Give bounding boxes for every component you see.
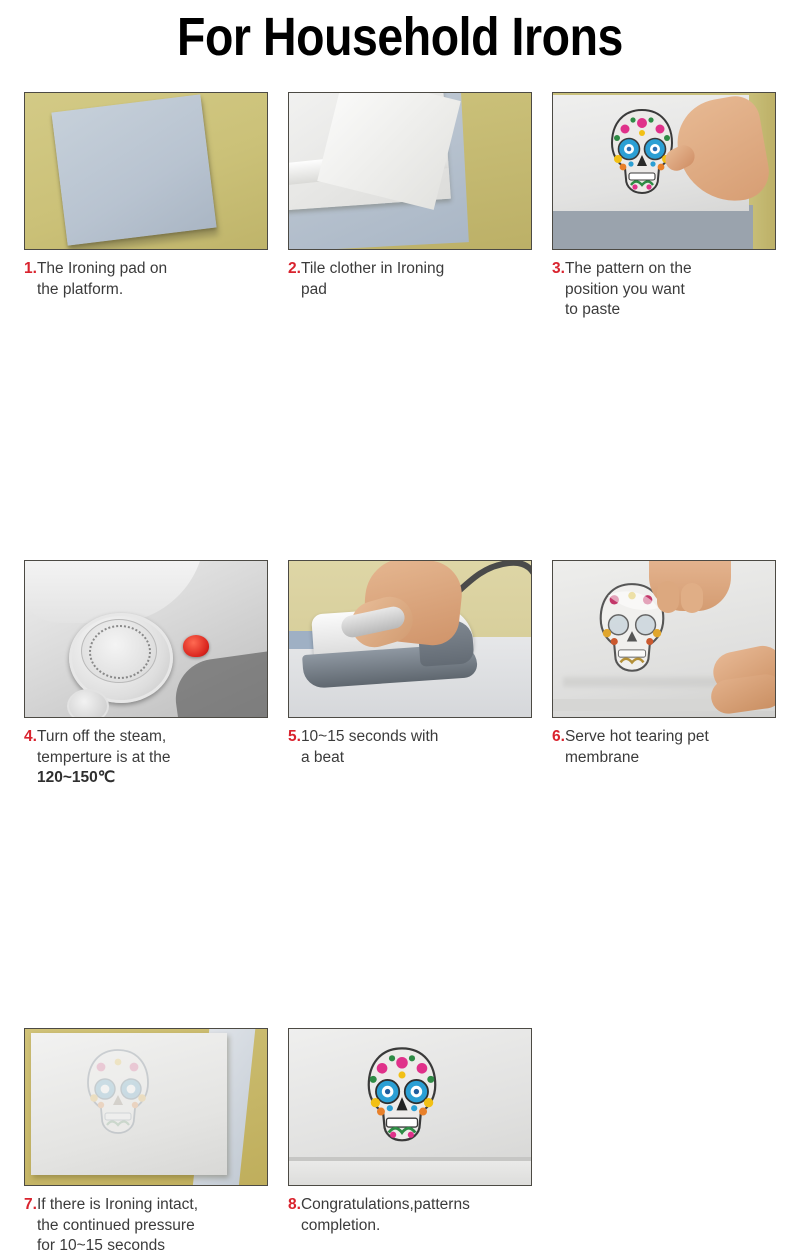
step-1-caption: 1.The Ironing pad on the platform. bbox=[24, 259, 268, 300]
step-7: 7.If there is Ironing intact, the contin… bbox=[24, 1028, 268, 1257]
step-3-number: 3. bbox=[552, 260, 565, 277]
step-3: 3.The pattern on the position you want t… bbox=[552, 92, 776, 321]
cloth-tiled-on-pad-photo bbox=[288, 92, 532, 250]
step-3-line-1: The pattern on the bbox=[565, 260, 692, 277]
step-3-caption: 3.The pattern on the position you want t… bbox=[552, 259, 776, 321]
step-8: 8.Congratulations,patterns completion. bbox=[288, 1028, 532, 1236]
page-title: For Household Irons bbox=[56, 6, 744, 68]
steps-row-1: 1.The Ironing pad on the platform. 2.Til… bbox=[0, 92, 800, 330]
place-pattern-photo bbox=[552, 92, 776, 250]
step-2: 2.Tile clother in Ironing pad bbox=[288, 92, 532, 300]
step-2-line-1: Tile clother in Ironing bbox=[301, 260, 444, 277]
step-8-line-2: completion. bbox=[301, 1217, 380, 1234]
step-1-number: 1. bbox=[24, 260, 37, 277]
instruction-sheet: For Household Irons 1.The Ironing pad on… bbox=[0, 0, 800, 800]
step-8-caption: 8.Congratulations,patterns completion. bbox=[288, 1195, 532, 1236]
step-3-line-2: position you want bbox=[565, 281, 685, 298]
step-2-line-2: pad bbox=[301, 281, 327, 298]
ironing-pad-on-platform-photo bbox=[24, 92, 268, 250]
step-1-line-2: the platform. bbox=[37, 281, 123, 298]
steps-row-2: 4.Turn off the steam, temperture is at t… bbox=[0, 328, 800, 566]
step-1: 1.The Ironing pad on the platform. bbox=[24, 92, 268, 300]
step-8-line-1: Congratulations,patterns bbox=[301, 1196, 470, 1213]
step-8-number: 8. bbox=[288, 1196, 301, 1213]
ironing-pad bbox=[51, 94, 216, 245]
finished-pattern-photo bbox=[288, 1028, 532, 1186]
sugar-skull-pattern-faded bbox=[81, 1047, 155, 1139]
step-1-line-1: The Ironing pad on bbox=[37, 260, 167, 277]
step-2-number: 2. bbox=[288, 260, 301, 277]
step-3-line-3: to paste bbox=[565, 301, 620, 318]
steps-grid: 1.The Ironing pad on the platform. 2.Til… bbox=[0, 92, 800, 796]
step-7-number: 7. bbox=[24, 1196, 37, 1213]
step-7-caption: 7.If there is Ironing intact, the contin… bbox=[24, 1195, 268, 1257]
step-2-caption: 2.Tile clother in Ironing pad bbox=[288, 259, 532, 300]
sugar-skull-pattern bbox=[361, 1045, 443, 1147]
faded-pattern-recheck-photo bbox=[24, 1028, 268, 1186]
step-7-line-1: If there is Ironing intact, bbox=[37, 1196, 198, 1213]
steps-row-3: 7.If there is Ironing intact, the contin… bbox=[0, 566, 800, 796]
step-7-line-2: the continued pressure bbox=[37, 1217, 195, 1234]
step-7-line-3: for 10~15 seconds bbox=[37, 1237, 165, 1254]
